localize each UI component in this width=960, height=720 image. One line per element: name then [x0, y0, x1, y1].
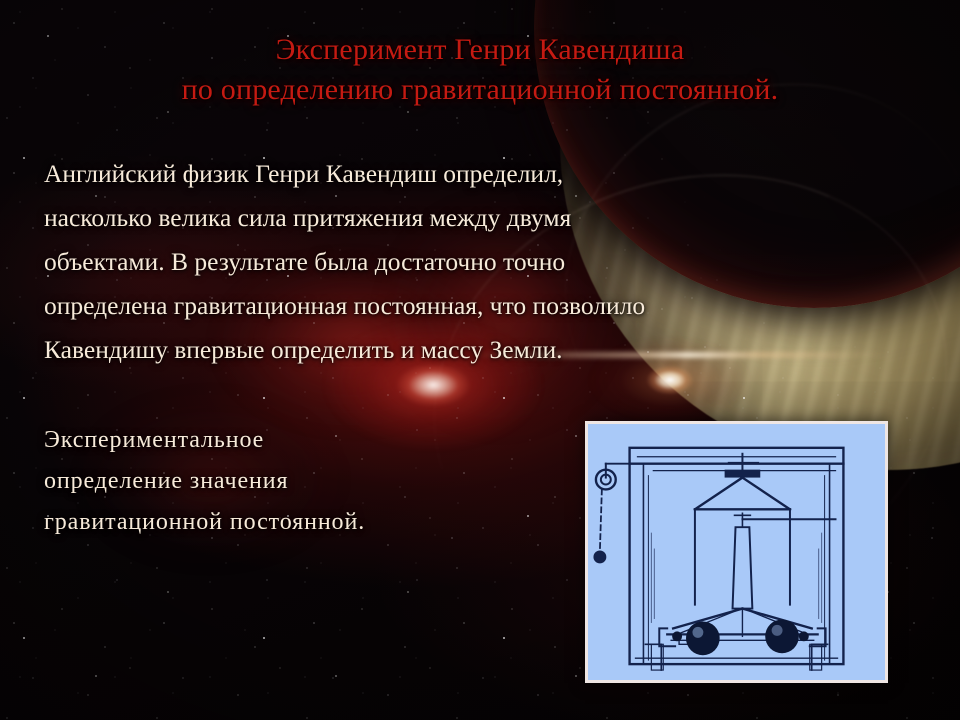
slide-title-line-1: Эксперимент Генри Кавендиша	[0, 30, 960, 70]
body-paragraph: Английский физик Генри Кавендиш определи…	[44, 152, 844, 372]
figure-frame	[585, 421, 888, 683]
figure-caption: Экспериментальное определение значения г…	[44, 420, 365, 543]
body-line-5: Кавендишу впервые определить и массу Зем…	[44, 328, 844, 372]
body-line-4: определена гравитационная постоянная, чт…	[44, 284, 844, 328]
slide-content: Эксперимент Генри Кавендиша по определен…	[0, 0, 960, 720]
figure-caption-line-1: Экспериментальное	[44, 420, 365, 461]
slide-title: Эксперимент Генри Кавендиша по определен…	[0, 30, 960, 110]
body-line-3: объектами. В результате была достаточно …	[44, 240, 844, 284]
body-line-2: насколько велика сила притяжения между д…	[44, 196, 844, 240]
slide-title-line-2: по определению гравитационной постоянной…	[0, 70, 960, 110]
slide-canvas: Эксперимент Генри Кавендиша по определен…	[0, 0, 960, 720]
figure-caption-line-3: гравитационной постоянной.	[44, 502, 365, 543]
figure-caption-line-2: определение значения	[44, 461, 365, 502]
cavendish-diagram	[588, 424, 885, 680]
body-line-1: Английский физик Генри Кавендиш определи…	[44, 152, 844, 196]
lead-spheres	[672, 619, 809, 655]
